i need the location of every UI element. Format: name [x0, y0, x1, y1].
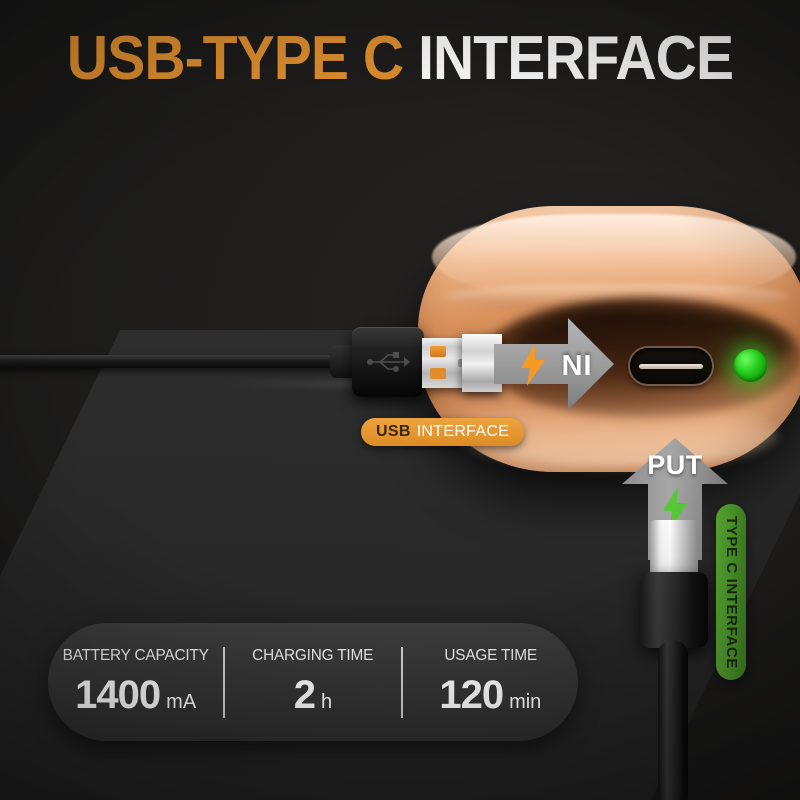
stat-number: 120	[439, 673, 503, 718]
usb-c-cable	[658, 640, 688, 800]
badge-usb-rest: INTERFACE	[417, 423, 510, 441]
badge-usb-interface: USB INTERFACE	[361, 418, 524, 446]
arrow-in-label: IN	[546, 334, 606, 394]
badge-typec-interface: TYPE C INTERFACE	[716, 504, 746, 680]
page-title: USB-TYPE C INTERFACE	[32, 28, 768, 90]
lightning-bolt-icon	[518, 344, 548, 386]
stat-battery-capacity: BATTERY CAPACITY 1400 mA	[48, 647, 223, 718]
title-rest: INTERFACE	[418, 24, 733, 93]
usb-c-plug-housing	[640, 572, 708, 648]
usb-a-cable	[0, 355, 362, 368]
stat-label: CHARGING TIME	[233, 647, 394, 665]
badge-typec-label: TYPE C INTERFACE	[723, 516, 740, 669]
stat-label: USAGE TIME	[410, 647, 571, 665]
product-infographic: USB-TYPE C INTERFACE	[0, 0, 800, 800]
spec-stats-bar: BATTERY CAPACITY 1400 mA CHARGING TIME 2…	[48, 623, 578, 741]
stat-number: 2	[294, 673, 315, 718]
stat-value: 1400 mA	[52, 673, 219, 718]
stat-label: BATTERY CAPACITY	[55, 647, 216, 665]
usb-trident-icon	[362, 349, 414, 375]
stat-unit: h	[321, 691, 332, 714]
stat-usage-time: USAGE TIME 120 min	[401, 647, 578, 718]
stat-charging-time: CHARGING TIME 2 h	[223, 647, 400, 718]
charging-indicator-led	[734, 349, 767, 382]
stat-unit: min	[509, 691, 541, 714]
stat-value: 2 h	[229, 673, 396, 718]
arrow-put-label: PUT	[622, 450, 728, 481]
usb-c-port	[630, 348, 712, 384]
stat-number: 1400	[75, 673, 160, 718]
stat-unit: mA	[166, 691, 196, 714]
badge-usb-strong: USB	[376, 423, 411, 441]
input-arrow-in: IN	[494, 318, 614, 410]
stat-value: 120 min	[407, 673, 574, 718]
title-highlight: USB-TYPE C	[67, 24, 403, 93]
